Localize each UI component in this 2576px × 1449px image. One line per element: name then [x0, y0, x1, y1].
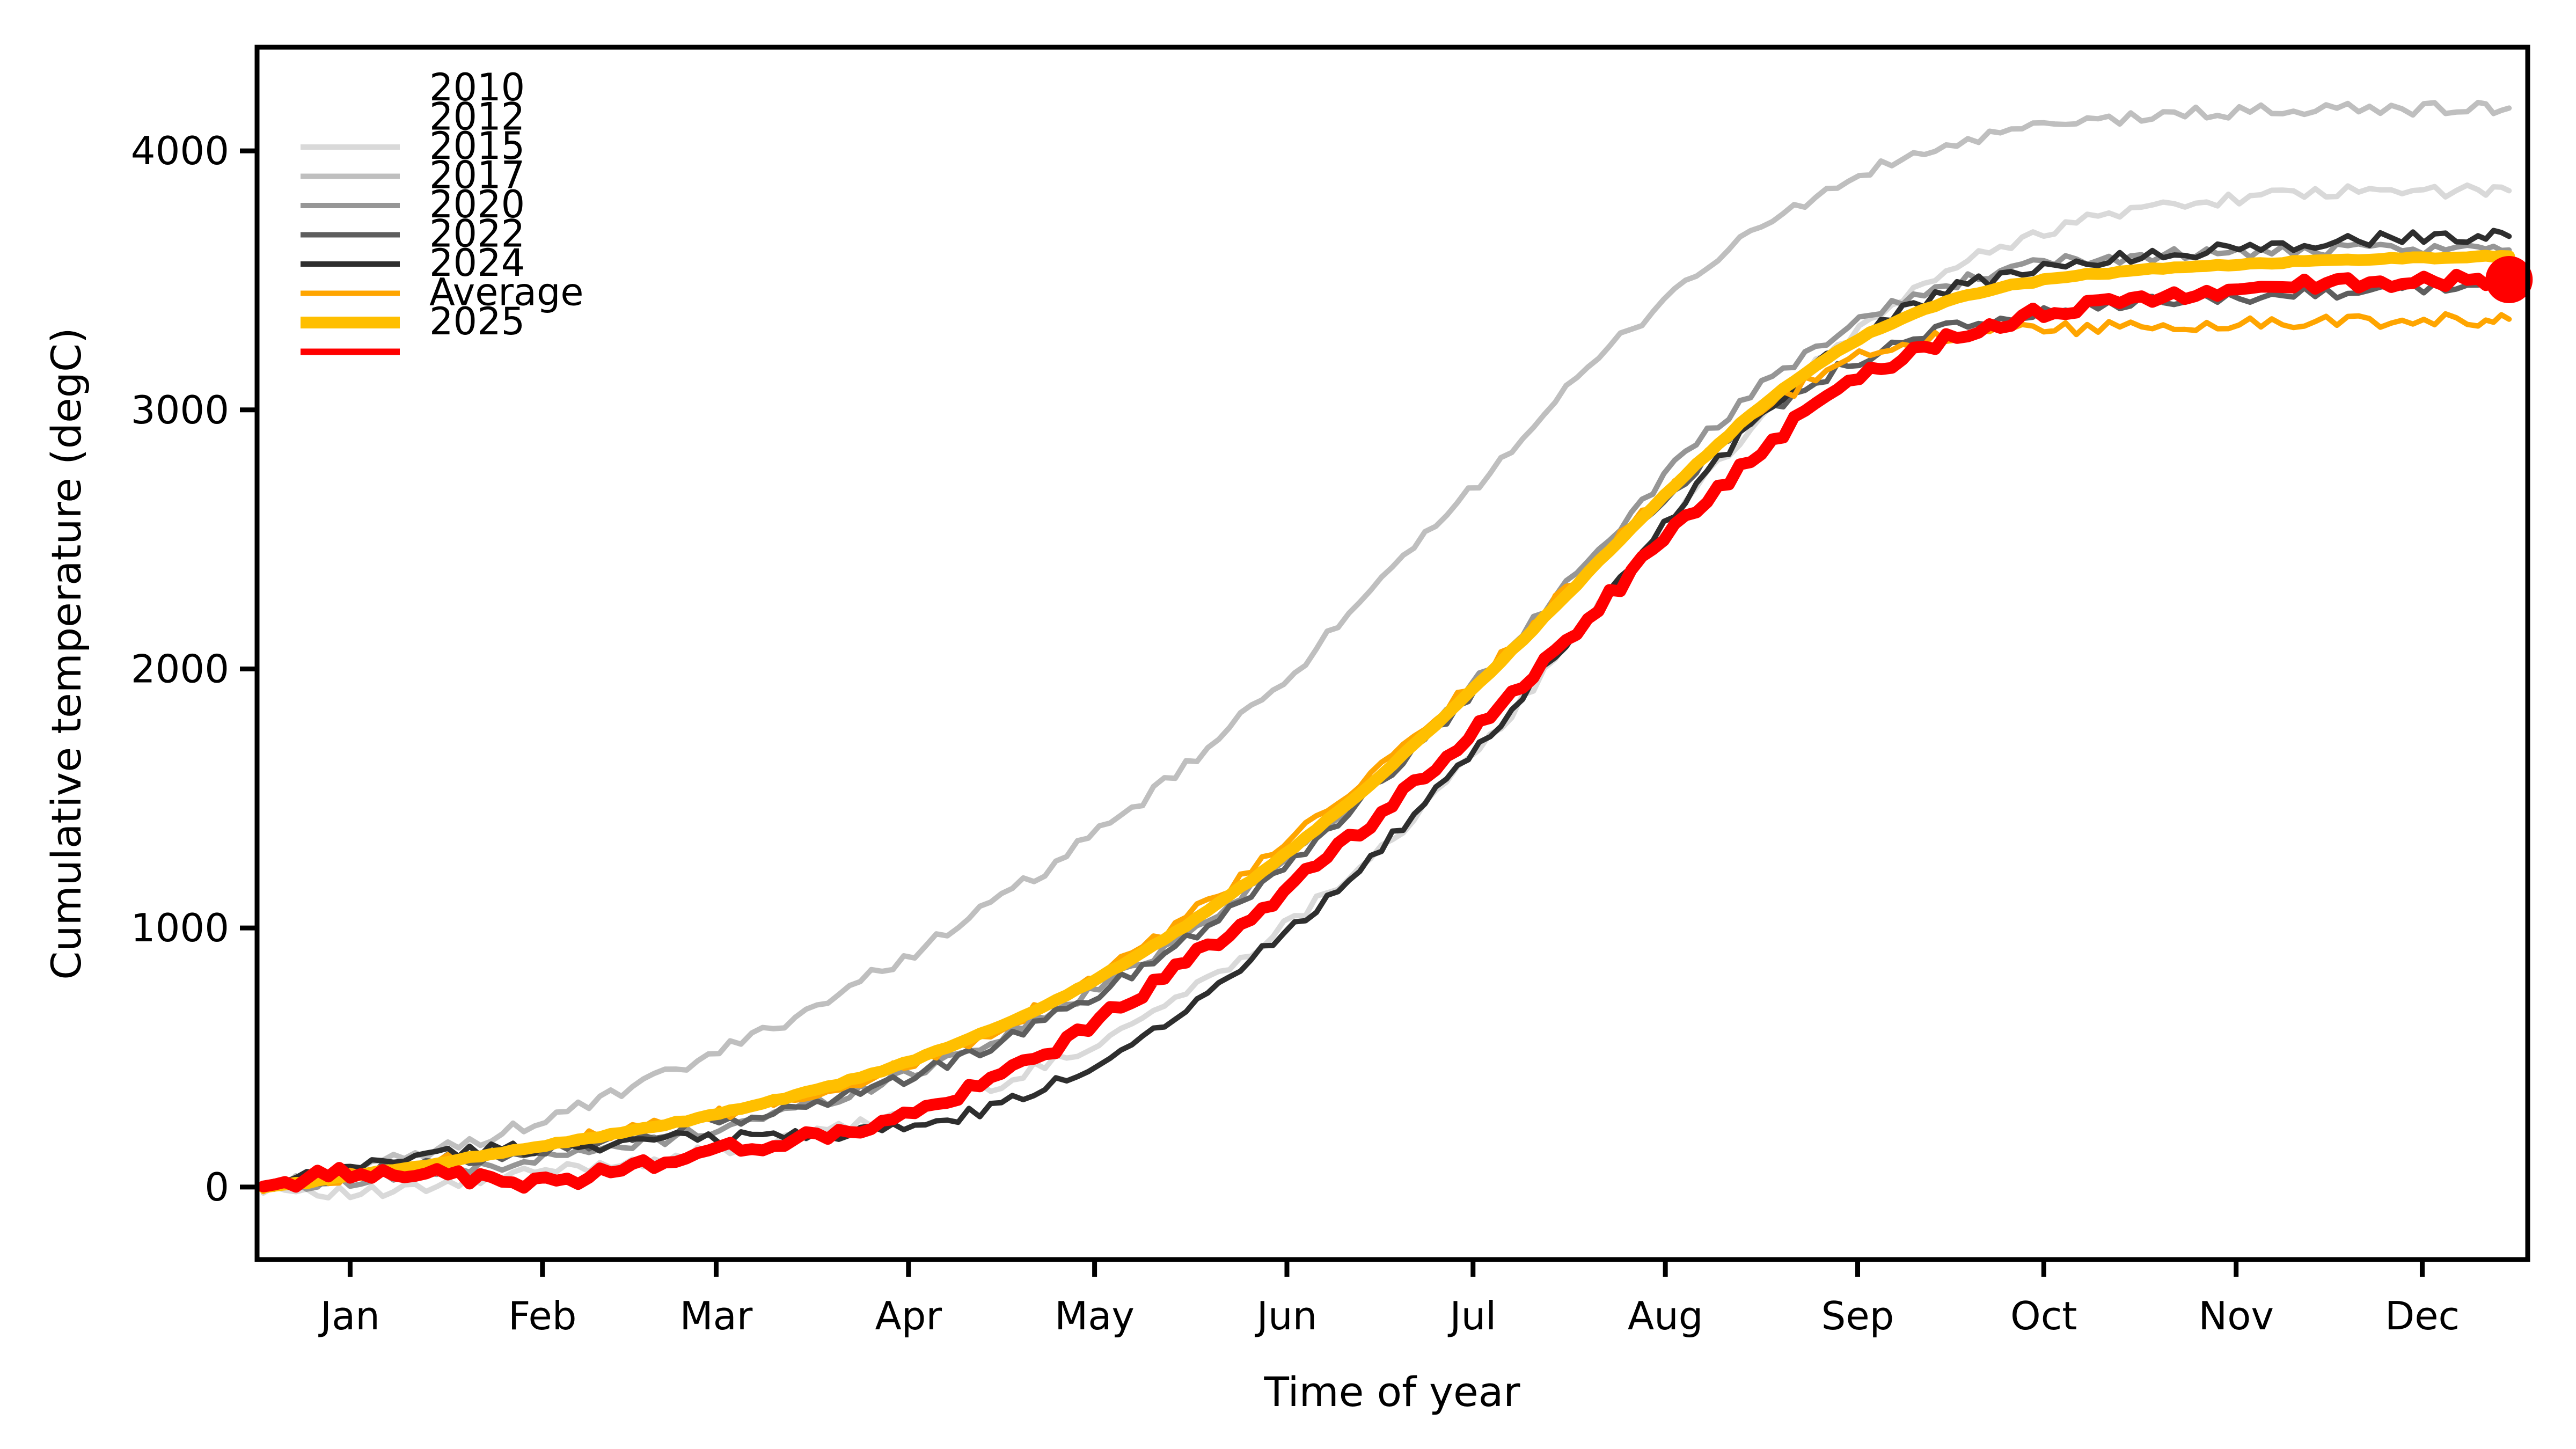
y-tick-label: 0: [204, 1165, 229, 1210]
y-tick-label: 1000: [131, 905, 229, 950]
legend-label-2025: 2025: [429, 299, 525, 343]
y-tick-label: 3000: [131, 387, 229, 433]
y-tick-label: 2000: [131, 646, 229, 691]
x-tick-label: Mar: [680, 1293, 753, 1338]
x-tick-label: Feb: [508, 1293, 576, 1338]
x-tick-label: Jun: [1255, 1293, 1318, 1338]
x-tick-label: May: [1055, 1293, 1135, 1338]
x-tick-label: Dec: [2385, 1293, 2460, 1338]
figure-canvas: 01000200030004000 JanFebMarAprMayJunJulA…: [0, 0, 2576, 1449]
x-tick-label: Oct: [2010, 1293, 2077, 1338]
x-tick-label: Apr: [875, 1293, 942, 1338]
x-tick-label: Jul: [1447, 1293, 1496, 1338]
x-tick-label: Jan: [318, 1293, 380, 1338]
x-tick-label: Nov: [2198, 1293, 2274, 1338]
chart-svg: 01000200030004000 JanFebMarAprMayJunJulA…: [0, 0, 2576, 1449]
x-axis-label: Time of year: [1263, 1368, 1520, 1416]
y-tick-label: 4000: [131, 128, 229, 173]
y-axis-label: Cumulative temperature (degC): [42, 327, 90, 979]
figure-background: [0, 0, 2576, 1449]
x-tick-label: Sep: [1821, 1293, 1894, 1338]
x-tick-label: Aug: [1628, 1293, 1703, 1338]
